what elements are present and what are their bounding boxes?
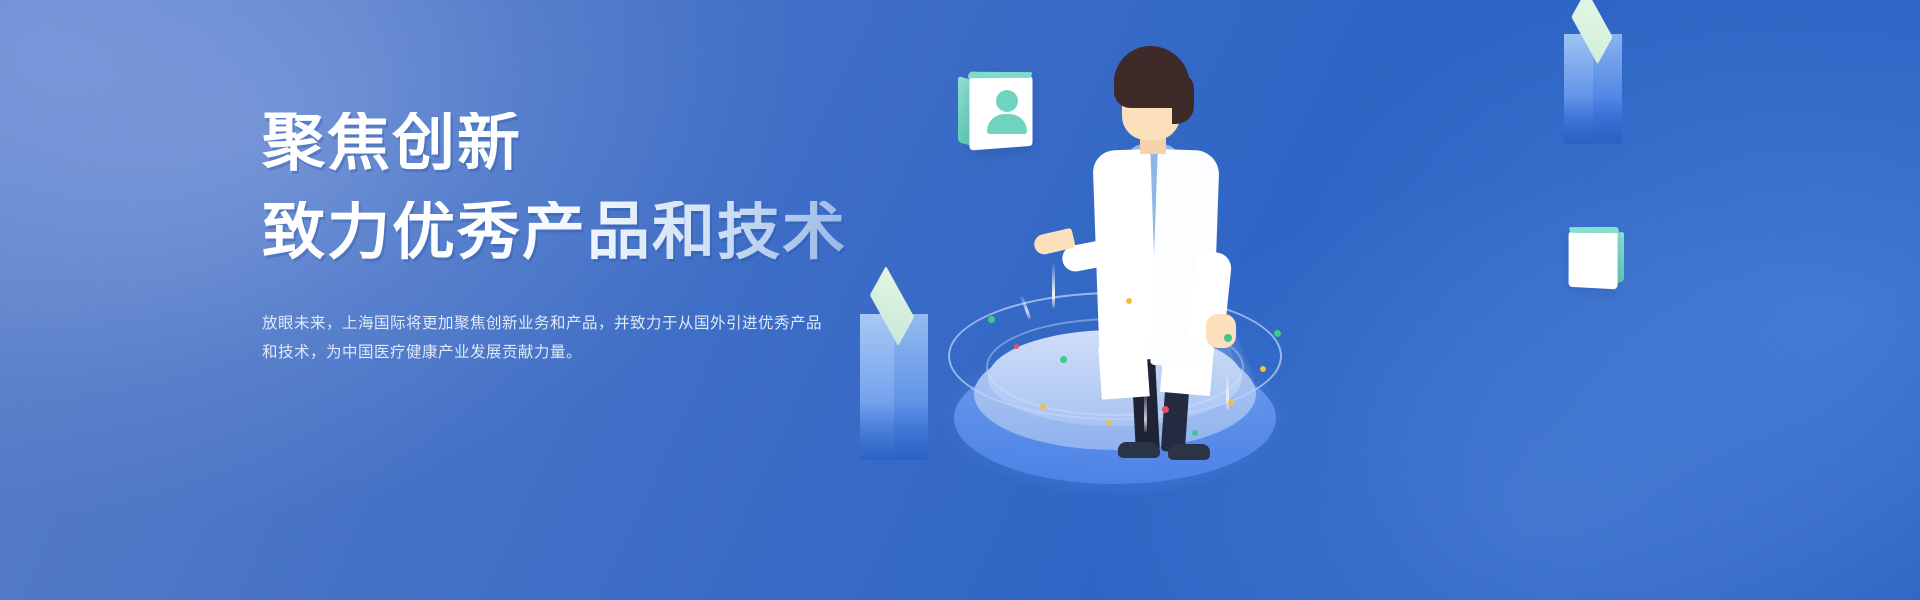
confetti-dot bbox=[1126, 298, 1132, 304]
light-streak bbox=[1104, 330, 1107, 360]
light-streak bbox=[1052, 262, 1055, 308]
floating-id-card bbox=[958, 74, 1040, 148]
light-streak bbox=[1144, 390, 1147, 432]
confetti-dot bbox=[1260, 366, 1266, 372]
headline-line-2: 致力优秀产品和技术 bbox=[262, 201, 942, 264]
confetti-dot bbox=[988, 316, 995, 323]
light-streak bbox=[1192, 288, 1195, 344]
shoe-left bbox=[1118, 442, 1160, 458]
confetti-dot bbox=[1060, 356, 1067, 363]
subtitle-line-1: 放眼未来，上海国际将更加聚焦创新业务和产品，并致力于从国外引进优秀产品 bbox=[262, 310, 862, 339]
card-face bbox=[969, 71, 1032, 150]
hand-right bbox=[1206, 314, 1236, 348]
confetti-dot bbox=[1192, 430, 1198, 436]
subtitle-line-2: 和技术，为中国医疗健康产业发展贡献力量。 bbox=[262, 339, 862, 368]
pillar-fade bbox=[1564, 98, 1622, 144]
floating-card-small bbox=[1566, 230, 1628, 288]
shoe-right bbox=[1168, 444, 1210, 460]
banner-copy: 聚焦创新 致力优秀产品和技术 放眼未来，上海国际将更加聚焦创新业务和产品，并致力… bbox=[262, 112, 942, 367]
confetti-dot bbox=[1224, 334, 1232, 342]
doctor-illustration bbox=[1056, 46, 1286, 466]
confetti-dot bbox=[1040, 404, 1046, 410]
hero-banner: 聚焦创新 致力优秀产品和技术 放眼未来，上海国际将更加聚焦创新业务和产品，并致力… bbox=[0, 0, 1920, 600]
confetti-dot bbox=[1274, 330, 1281, 337]
confetti-dot bbox=[1106, 420, 1111, 425]
decorative-pillar-left bbox=[850, 290, 938, 460]
user-avatar-icon bbox=[996, 90, 1018, 112]
confetti-dot bbox=[1014, 344, 1019, 349]
illustration-stage bbox=[930, 0, 1730, 600]
pillar-fade bbox=[860, 402, 928, 460]
headline-line-1: 聚焦创新 bbox=[262, 112, 942, 175]
hair-fringe bbox=[1114, 62, 1182, 88]
decorative-pillar-right bbox=[1556, 12, 1630, 142]
banner-subtitle: 放眼未来，上海国际将更加聚焦创新业务和产品，并致力于从国外引进优秀产品 和技术，… bbox=[262, 310, 862, 367]
confetti-dot bbox=[1162, 406, 1169, 413]
card-top-edge bbox=[967, 72, 1032, 78]
card-face bbox=[1569, 229, 1618, 290]
card-top-edge bbox=[1569, 227, 1620, 233]
confetti-dot bbox=[1228, 400, 1234, 406]
